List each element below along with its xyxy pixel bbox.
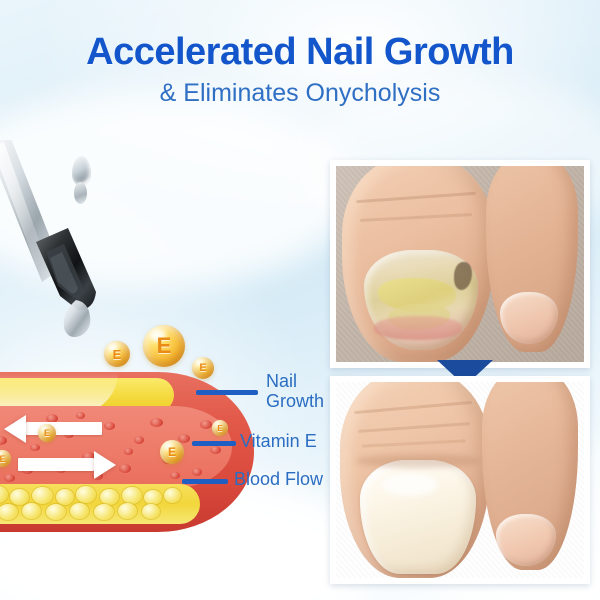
- callout-nail-growth: Nail Growth: [266, 371, 324, 411]
- vitamin-e-bubble-1: E: [104, 341, 130, 367]
- header: Accelerated Nail Growth & Eliminates Ony…: [0, 0, 600, 106]
- leader-line-vitamin-e: [192, 441, 236, 446]
- skin-cross-section: E E E E: [0, 372, 254, 542]
- leader-line-blood-flow: [182, 479, 228, 484]
- callout-blood-flow: Blood Flow: [234, 469, 323, 489]
- before-photo-frame: [330, 160, 590, 368]
- page-title: Accelerated Nail Growth: [0, 0, 600, 71]
- after-photo-frame: [330, 376, 590, 584]
- before-photo-damaged-toenail: [336, 166, 584, 362]
- vitamin-e-bubble-2: E: [143, 325, 185, 367]
- blood-flow-arrow-right: [18, 458, 94, 471]
- after-photo-healthy-toenail: [336, 382, 584, 578]
- serum-droplet-small: [74, 182, 87, 204]
- fat-layer-bottom: [0, 484, 200, 524]
- vitamin-e-particle-1: E: [38, 424, 56, 442]
- callout-vitamin-e: Vitamin E: [240, 431, 317, 451]
- leader-line-nail-growth: [196, 390, 258, 395]
- vitamin-e-particle-4: E: [212, 420, 228, 436]
- vessel-lumen: [0, 406, 232, 488]
- vitamin-e-particle-3: E: [160, 440, 184, 464]
- poster-canvas: Accelerated Nail Growth & Eliminates Ony…: [0, 0, 600, 600]
- page-subtitle: & Eliminates Onycholysis: [0, 71, 600, 106]
